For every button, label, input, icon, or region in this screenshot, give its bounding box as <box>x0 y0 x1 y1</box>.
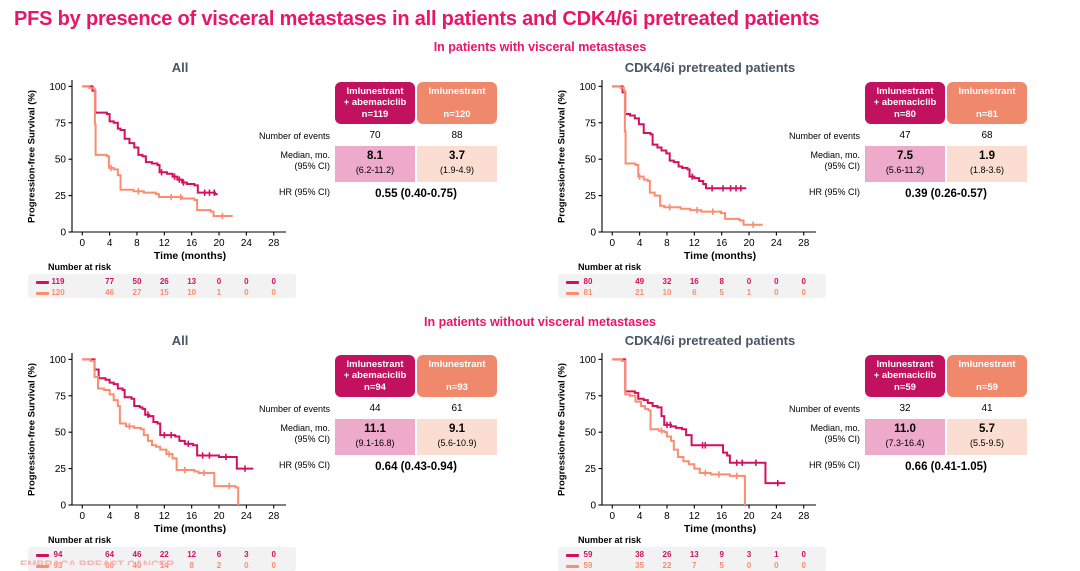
events-value-arm-a: 44 <box>335 403 415 414</box>
number-at-risk-cell: 7 <box>682 561 706 570</box>
x-tick-label: 28 <box>268 511 280 522</box>
panel-with-all: AllProgression-free Survival (%)10075502… <box>20 60 530 290</box>
number-at-risk-cell: 13 <box>682 550 706 559</box>
median-value-arm-b: 3.7 <box>417 150 497 162</box>
number-at-risk-cell: 0 <box>262 277 286 286</box>
x-axis-label: Time (months) <box>154 250 226 262</box>
arm-a-n: n=94 <box>364 382 386 393</box>
section-header-without-visceral: In patients without visceral metastases <box>0 315 1080 329</box>
arm-a-name-line2: + abemaciclib <box>344 370 407 381</box>
number-at-risk-cell: 1 <box>737 288 761 297</box>
y-tick-label: 75 <box>585 118 597 129</box>
table-header-arm-b: Imlunestrantn=93 <box>417 355 497 397</box>
y-tick-label: 0 <box>60 501 66 512</box>
median-ci-arm-a: (7.3-16.4) <box>865 438 945 448</box>
arm-b-n: n=59 <box>976 382 998 393</box>
x-tick-label: 20 <box>213 511 225 522</box>
median-ci-arm-a: (6.2-11.2) <box>335 165 415 175</box>
events-value-arm-a: 47 <box>865 130 945 141</box>
arm-a-name-line1: Imlunestrant <box>346 86 403 97</box>
number-at-risk-cell: 5 <box>710 561 734 570</box>
x-tick-label: 24 <box>771 511 783 522</box>
y-tick-label: 100 <box>49 355 66 366</box>
number-at-risk-cell: 0 <box>737 561 761 570</box>
y-tick-label: 50 <box>55 428 67 439</box>
number-at-risk-cell: 49 <box>628 277 652 286</box>
number-at-risk-cell: 77 <box>98 277 122 286</box>
hr-value: 0.66 (0.41-1.05) <box>865 461 1027 473</box>
median-value-arm-b: 5.7 <box>947 423 1027 435</box>
arm-a-name-line2: + abemaciclib <box>874 97 937 108</box>
km-curve-arm-a <box>82 359 253 468</box>
median-ci-arm-a: (9.1-16.8) <box>335 438 415 448</box>
number-at-risk-cell: 6 <box>682 288 706 297</box>
number-at-risk-cell: 9 <box>710 550 734 559</box>
number-at-risk-title: Number at risk <box>48 262 111 272</box>
page-title: PFS by presence of visceral metastases i… <box>14 8 819 31</box>
x-tick-label: 24 <box>241 238 253 249</box>
number-at-risk-cell: 10 <box>180 288 204 297</box>
arm-a-name-line1: Imlunestrant <box>876 359 933 370</box>
row-label-median: Median, mo.(95% CI) <box>760 150 860 172</box>
number-at-risk-cell: 0 <box>262 550 286 559</box>
y-tick-label: 50 <box>585 155 597 166</box>
number-at-risk-cell: 46 <box>98 288 122 297</box>
x-tick-label: 4 <box>637 511 643 522</box>
arm-a-n: n=80 <box>894 109 916 120</box>
median-value-arm-a: 11.0 <box>865 423 945 435</box>
section-header-with-visceral: In patients with visceral metastases <box>0 40 1080 54</box>
y-tick-label: 75 <box>55 118 67 129</box>
row-label-median: Median, mo.(95% CI) <box>230 150 330 172</box>
hr-value: 0.39 (0.26-0.57) <box>865 188 1027 200</box>
number-at-risk-cell: 0 <box>764 288 788 297</box>
number-at-risk-title: Number at risk <box>578 262 641 272</box>
number-at-risk-title: Number at risk <box>48 535 111 545</box>
x-tick-label: 0 <box>609 511 615 522</box>
km-curve-arm-b <box>612 359 745 505</box>
slide-root: PFS by presence of visceral metastases i… <box>0 0 1080 565</box>
panel-without-all: AllProgression-free Survival (%)10075502… <box>20 333 530 563</box>
x-axis-label: Time (months) <box>684 523 756 535</box>
row-label-hr: HR (95% CI) <box>760 187 860 198</box>
number-at-risk-cell: 120 <box>46 288 70 297</box>
x-tick-label: 16 <box>716 238 728 249</box>
table-header-arm-a: Imlunestrant+ abemaciclibn=94 <box>335 355 415 397</box>
x-tick-label: 28 <box>798 511 810 522</box>
km-curve-arm-a <box>612 86 746 188</box>
number-at-risk-cell: 35 <box>628 561 652 570</box>
hr-value: 0.64 (0.43-0.94) <box>335 461 497 473</box>
median-value-arm-a: 7.5 <box>865 150 945 162</box>
y-tick-label: 75 <box>585 391 597 402</box>
arm-a-n: n=119 <box>362 109 389 120</box>
x-tick-label: 4 <box>107 511 113 522</box>
row-label-hr: HR (95% CI) <box>230 187 330 198</box>
events-value-arm-b: 88 <box>417 130 497 141</box>
panel-without-cdk: CDK4/6i pretreated patientsProgression-f… <box>550 333 1060 563</box>
number-at-risk-cell: 6 <box>207 550 231 559</box>
number-at-risk-cell: 0 <box>764 561 788 570</box>
x-tick-label: 20 <box>743 238 755 249</box>
panel-with-cdk: CDK4/6i pretreated patientsProgression-f… <box>550 60 1060 290</box>
number-at-risk-cell: 0 <box>234 288 258 297</box>
km-curve-arm-b <box>612 86 762 224</box>
events-value-arm-a: 70 <box>335 130 415 141</box>
number-at-risk-cell: 32 <box>655 277 679 286</box>
number-at-risk-cell: 59 <box>576 561 600 570</box>
median-ci-arm-b: (1.8-3.6) <box>947 165 1027 175</box>
y-tick-label: 100 <box>49 82 66 93</box>
x-tick-label: 16 <box>186 511 198 522</box>
arm-b-name: Imlunestrant <box>428 86 485 97</box>
number-at-risk-cell: 3 <box>234 550 258 559</box>
number-at-risk-cell: 10 <box>655 288 679 297</box>
x-tick-label: 12 <box>689 238 701 249</box>
events-value-arm-a: 32 <box>865 403 945 414</box>
number-at-risk-cell: 94 <box>46 550 70 559</box>
row-label-events: Number of events <box>760 404 860 415</box>
x-tick-label: 12 <box>159 511 171 522</box>
arm-a-name-line1: Imlunestrant <box>876 86 933 97</box>
x-tick-label: 0 <box>79 238 85 249</box>
x-axis-label: Time (months) <box>154 523 226 535</box>
y-tick-label: 0 <box>590 228 596 239</box>
number-at-risk-cell: 81 <box>576 288 600 297</box>
number-at-risk-cell: 46 <box>125 550 149 559</box>
y-tick-label: 100 <box>579 355 596 366</box>
number-at-risk-cell: 0 <box>262 288 286 297</box>
number-at-risk-cell: 22 <box>655 561 679 570</box>
median-ci-arm-b: (5.6-10.9) <box>417 438 497 448</box>
arm-a-name-line1: Imlunestrant <box>346 359 403 370</box>
number-at-risk-cell: 119 <box>46 277 70 286</box>
x-tick-label: 12 <box>159 238 171 249</box>
median-ci-arm-b: (1.9-4.9) <box>417 165 497 175</box>
x-tick-label: 20 <box>743 511 755 522</box>
y-tick-label: 25 <box>55 464 67 475</box>
events-value-arm-b: 68 <box>947 130 1027 141</box>
km-curve-arm-a <box>82 86 217 194</box>
y-tick-label: 50 <box>55 155 67 166</box>
number-at-risk-cell: 0 <box>737 277 761 286</box>
x-tick-label: 8 <box>134 238 140 249</box>
arm-b-name: Imlunestrant <box>428 359 485 370</box>
arm-b-n: n=81 <box>976 109 998 120</box>
y-tick-label: 50 <box>585 428 597 439</box>
arm-b-n: n=93 <box>446 382 468 393</box>
x-tick-label: 28 <box>268 238 280 249</box>
number-at-risk-cell: 15 <box>152 288 176 297</box>
x-tick-label: 16 <box>716 511 728 522</box>
number-at-risk-cell: 12 <box>180 550 204 559</box>
hr-value: 0.55 (0.40-0.75) <box>335 188 497 200</box>
arm-b-name: Imlunestrant <box>958 359 1015 370</box>
arm-b-name: Imlunestrant <box>958 86 1015 97</box>
x-tick-label: 28 <box>798 238 810 249</box>
row-label-median: Median, mo.(95% CI) <box>760 423 860 445</box>
y-tick-label: 0 <box>60 228 66 239</box>
number-at-risk-cell: 38 <box>628 550 652 559</box>
row-label-hr: HR (95% CI) <box>760 460 860 471</box>
number-at-risk-cell: 0 <box>792 561 816 570</box>
number-at-risk-title: Number at risk <box>578 535 641 545</box>
x-tick-label: 20 <box>213 238 225 249</box>
number-at-risk-cell: 0 <box>234 277 258 286</box>
number-at-risk-cell: 26 <box>152 277 176 286</box>
number-at-risk-cell: 13 <box>180 277 204 286</box>
median-value-arm-a: 8.1 <box>335 150 415 162</box>
arm-a-name-line2: + abemaciclib <box>344 97 407 108</box>
number-at-risk-cell: 5 <box>710 288 734 297</box>
x-tick-label: 16 <box>186 238 198 249</box>
arm-b-n: n=120 <box>443 109 470 120</box>
events-value-arm-b: 61 <box>417 403 497 414</box>
table-header-arm-b: Imlunestrantn=120 <box>417 82 497 124</box>
events-value-arm-b: 41 <box>947 403 1027 414</box>
y-tick-label: 100 <box>579 82 596 93</box>
number-at-risk-cell: 8 <box>710 277 734 286</box>
median-value-arm-b: 9.1 <box>417 423 497 435</box>
row-label-median: Median, mo.(95% CI) <box>230 423 330 445</box>
bottom-cut-text: EMBRACA BREAST CANCER <box>20 559 380 565</box>
number-at-risk-cell: 64 <box>98 550 122 559</box>
median-value-arm-b: 1.9 <box>947 150 1027 162</box>
number-at-risk-cell: 50 <box>125 277 149 286</box>
x-axis-label: Time (months) <box>684 250 756 262</box>
y-tick-label: 0 <box>590 501 596 512</box>
km-curve-arm-b <box>82 86 232 216</box>
number-at-risk-cell: 0 <box>207 277 231 286</box>
y-tick-label: 25 <box>55 191 67 202</box>
median-value-arm-a: 11.1 <box>335 423 415 435</box>
number-at-risk-cell: 22 <box>152 550 176 559</box>
y-tick-label: 25 <box>585 464 597 475</box>
x-tick-label: 0 <box>609 238 615 249</box>
number-at-risk-cell: 0 <box>792 277 816 286</box>
row-label-events: Number of events <box>230 131 330 142</box>
y-tick-label: 25 <box>585 191 597 202</box>
table-header-arm-a: Imlunestrant+ abemaciclibn=119 <box>335 82 415 124</box>
number-at-risk-cell: 1 <box>764 550 788 559</box>
table-header-arm-b: Imlunestrantn=59 <box>947 355 1027 397</box>
number-at-risk-cell: 3 <box>737 550 761 559</box>
table-header-arm-a: Imlunestrant+ abemaciclibn=59 <box>865 355 945 397</box>
x-tick-label: 12 <box>689 511 701 522</box>
row-label-events: Number of events <box>760 131 860 142</box>
number-at-risk-cell: 59 <box>576 550 600 559</box>
arm-a-n: n=59 <box>894 382 916 393</box>
median-ci-arm-a: (5.6-11.2) <box>865 165 945 175</box>
arm-a-name-line2: + abemaciclib <box>874 370 937 381</box>
x-tick-label: 8 <box>134 511 140 522</box>
number-at-risk-cell: 1 <box>207 288 231 297</box>
row-label-hr: HR (95% CI) <box>230 460 330 471</box>
x-tick-label: 4 <box>637 238 643 249</box>
number-at-risk-cell: 21 <box>628 288 652 297</box>
x-tick-label: 8 <box>664 511 670 522</box>
number-at-risk-cell: 0 <box>792 288 816 297</box>
number-at-risk-cell: 16 <box>682 277 706 286</box>
number-at-risk-cell: 0 <box>764 277 788 286</box>
table-header-arm-b: Imlunestrantn=81 <box>947 82 1027 124</box>
number-at-risk-cell: 80 <box>576 277 600 286</box>
table-header-arm-a: Imlunestrant+ abemaciclibn=80 <box>865 82 945 124</box>
x-tick-label: 0 <box>79 511 85 522</box>
x-tick-label: 8 <box>664 238 670 249</box>
number-at-risk-cell: 27 <box>125 288 149 297</box>
y-tick-label: 75 <box>55 391 67 402</box>
x-tick-label: 24 <box>241 511 253 522</box>
row-label-events: Number of events <box>230 404 330 415</box>
number-at-risk-cell: 0 <box>792 550 816 559</box>
number-at-risk-cell: 26 <box>655 550 679 559</box>
median-ci-arm-b: (5.5-9.5) <box>947 438 1027 448</box>
x-tick-label: 24 <box>771 238 783 249</box>
x-tick-label: 4 <box>107 238 113 249</box>
